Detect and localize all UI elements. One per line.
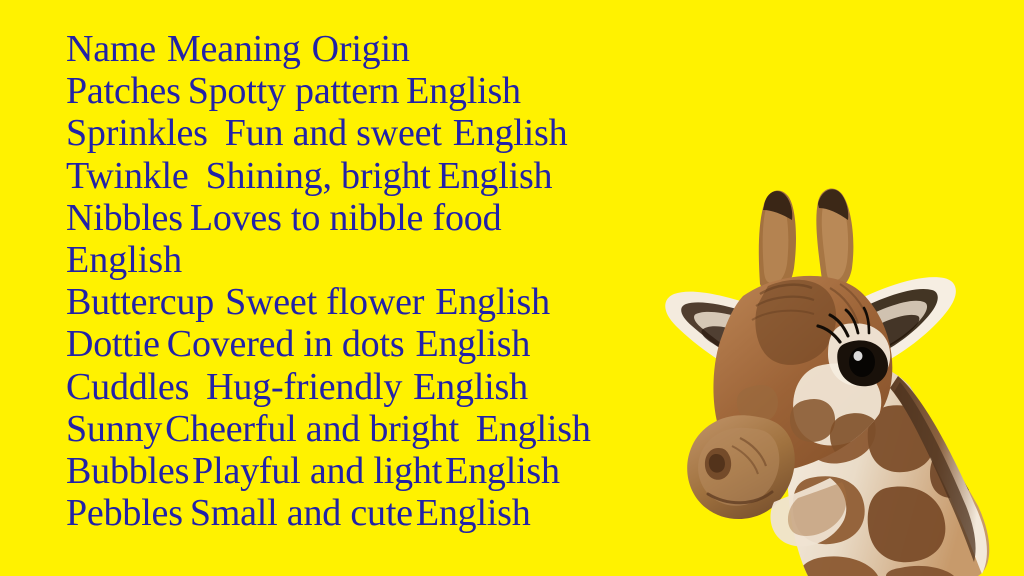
cell-origin: English: [438, 155, 553, 197]
table-row: TwinkleShining, brightEnglish: [66, 155, 666, 197]
table-row: PebblesSmall and cuteEnglish: [66, 492, 666, 534]
cell-meaning: Covered in dots: [167, 323, 405, 365]
cell-origin: English: [476, 408, 591, 450]
cell-origin: English: [415, 323, 530, 365]
header-name: Name: [66, 28, 156, 70]
giraffe-illustration: [648, 176, 1024, 576]
cell-meaning: Fun and sweet: [225, 112, 442, 154]
cell-meaning: Cheerful and bright: [165, 408, 459, 450]
table-row: ButtercupSweet flowerEnglish: [66, 281, 666, 323]
cell-origin: English: [453, 112, 568, 154]
slide-canvas: NameMeaningOrigin PatchesSpotty patternE…: [0, 0, 1024, 576]
header-meaning: Meaning: [167, 28, 301, 70]
cell-meaning: Shining, bright: [206, 155, 431, 197]
cell-origin: English: [66, 239, 182, 281]
cell-name: Dottie: [66, 323, 160, 365]
cell-origin: English: [416, 492, 531, 534]
cell-meaning: Hug-friendly: [206, 366, 402, 408]
table-header-row: NameMeaningOrigin: [66, 28, 666, 70]
table-row: NibblesLoves to nibble food: [66, 197, 666, 239]
cell-origin: English: [406, 70, 521, 112]
cell-name: Cuddles: [66, 366, 189, 408]
table-row: CuddlesHug-friendlyEnglish: [66, 366, 666, 408]
cell-name: Buttercup: [66, 281, 214, 323]
cell-meaning: Small and cute: [190, 492, 413, 534]
cell-name: Twinkle: [66, 155, 189, 197]
table-row: BubblesPlayful and lightEnglish: [66, 450, 666, 492]
table-row: PatchesSpotty patternEnglish: [66, 70, 666, 112]
table-row: SunnyCheerful and brightEnglish: [66, 408, 666, 450]
name-meaning-origin-table: NameMeaningOrigin PatchesSpotty patternE…: [66, 28, 666, 534]
cell-name: Patches: [66, 70, 181, 112]
cell-origin: English: [413, 366, 528, 408]
cell-name: Pebbles: [66, 492, 183, 534]
giraffe-ossicones: [759, 188, 854, 290]
cell-origin: English: [435, 281, 550, 323]
giraffe-svg: [648, 176, 1024, 576]
header-origin: Origin: [312, 28, 410, 70]
cell-meaning: Sweet flower: [225, 281, 424, 323]
table-row-continuation: English: [66, 239, 666, 281]
cell-meaning: Loves to nibble food: [190, 197, 502, 239]
cell-name: Sprinkles: [66, 112, 208, 154]
cell-name: Sunny: [66, 408, 162, 450]
table-row: DottieCovered in dotsEnglish: [66, 323, 666, 365]
cell-name: Nibbles: [66, 197, 183, 239]
cell-origin: English: [445, 450, 560, 492]
table-row: SprinklesFun and sweetEnglish: [66, 112, 666, 154]
cell-meaning: Playful and light: [192, 450, 442, 492]
cell-name: Bubbles: [66, 450, 189, 492]
cell-meaning: Spotty pattern: [188, 70, 399, 112]
